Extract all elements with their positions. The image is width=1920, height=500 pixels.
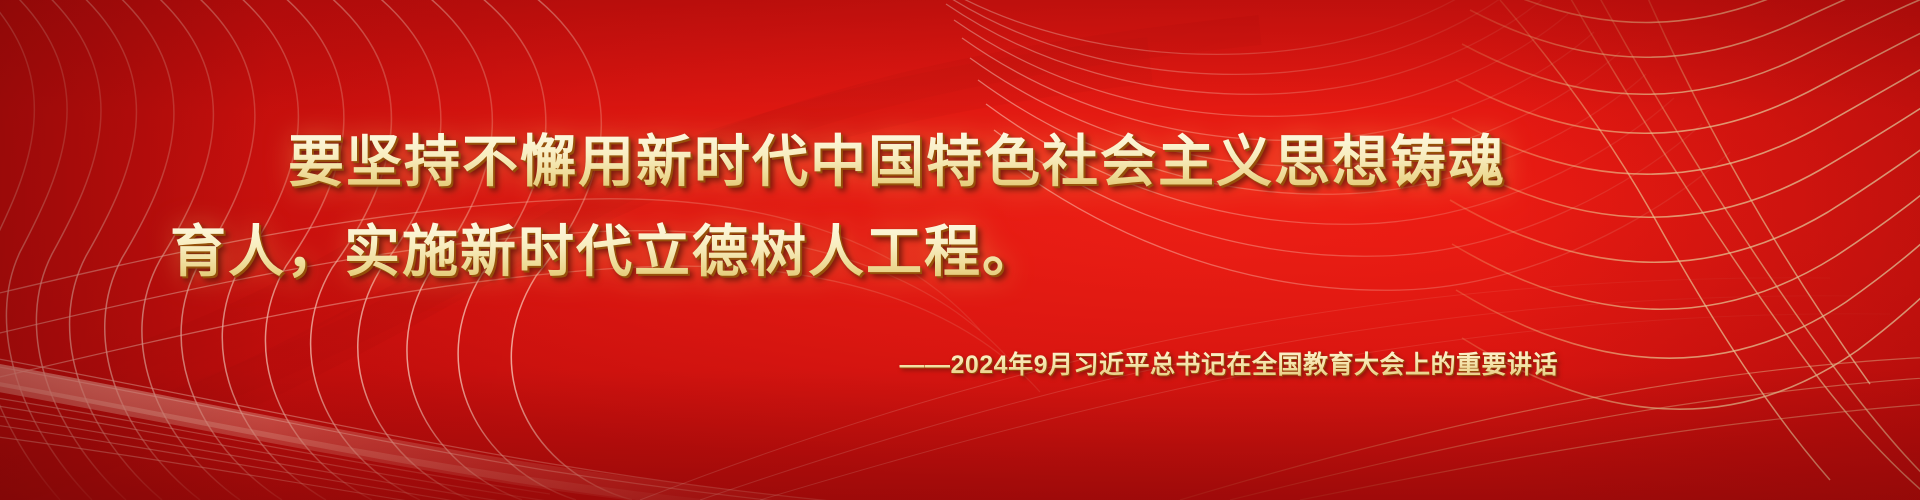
banner-content: 要坚持不懈用新时代中国特色社会主义思想铸魂 育人，实施新时代立德树人工程。 ——… [0, 0, 1920, 500]
quote-block: 要坚持不懈用新时代中国特色社会主义思想铸魂 育人，实施新时代立德树人工程。 [0, 125, 1920, 289]
quote-attribution: ——2024年9月习近平总书记在全国教育大会上的重要讲话 [899, 345, 1558, 381]
quote-line-1: 要坚持不懈用新时代中国特色社会主义思想铸魂 [170, 125, 1770, 199]
attribution-row: ——2024年9月习近平总书记在全国教育大会上的重要讲话 [0, 345, 1920, 381]
quote-line-2: 育人，实施新时代立德树人工程。 [170, 215, 1770, 289]
quote-banner: 要坚持不懈用新时代中国特色社会主义思想铸魂 育人，实施新时代立德树人工程。 ——… [0, 0, 1920, 500]
